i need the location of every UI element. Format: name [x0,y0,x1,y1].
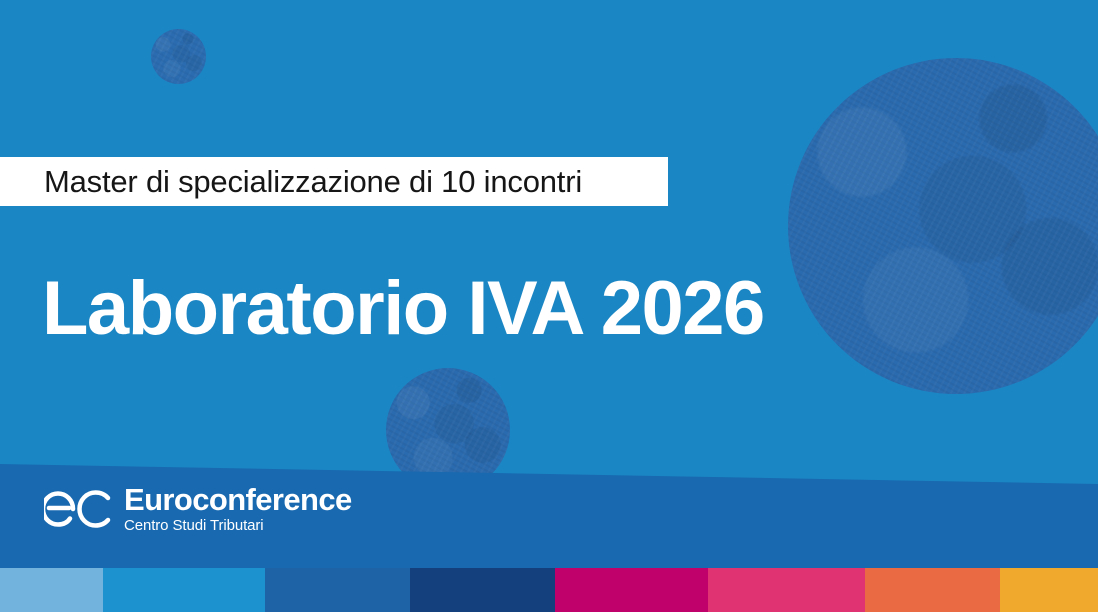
euroconference-logo[interactable]: Euroconference Centro Studi Tributari [44,484,352,534]
logo-wordmark: Euroconference Centro Studi Tributari [124,484,352,534]
decorative-circle-small [151,29,206,84]
brand-color-strip [0,568,1098,612]
promo-banner: Master di specializzazione di 10 incontr… [0,0,1098,612]
segment-orange [865,568,1000,612]
segment-pink [708,568,865,612]
kicker-text: Master di specializzazione di 10 incontr… [44,164,582,200]
segment-amber [1000,568,1098,612]
segment-magenta [555,568,708,612]
logo-name: Euroconference [124,484,352,516]
segment-navy [410,568,555,612]
ec-monogram-icon [44,486,114,532]
kicker-band: Master di specializzazione di 10 incontr… [0,157,668,206]
page-title: Laboratorio IVA 2026 [42,271,764,347]
logo-tagline: Centro Studi Tributari [124,518,352,535]
segment-light-blue [0,568,103,612]
segment-blue [103,568,265,612]
segment-mid-blue [265,568,410,612]
